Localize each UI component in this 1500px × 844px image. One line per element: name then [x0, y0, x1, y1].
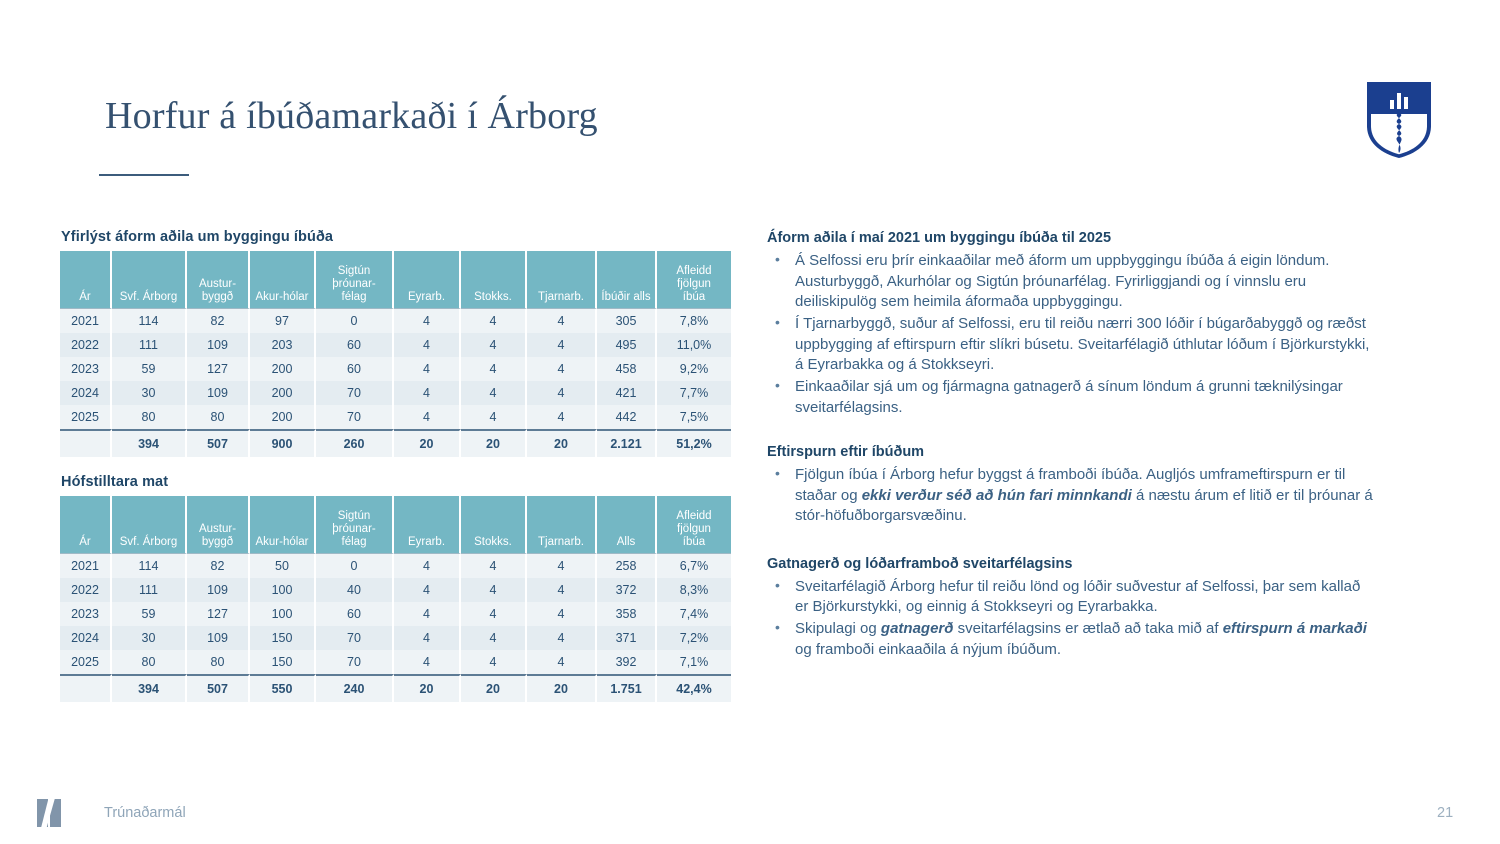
table-1-col-header: Svf. Árborg [112, 251, 187, 309]
table-cell: 4 [394, 309, 461, 333]
table-1-col-header: Austur-byggð [187, 251, 250, 309]
table-cell: 111 [112, 333, 187, 357]
table-total-cell: 20 [527, 674, 597, 702]
table-cell: 4 [527, 309, 597, 333]
table-cell: 0 [316, 554, 394, 578]
table-cell: 2023 [60, 357, 112, 381]
table-1-col-header: Afleidd fjölguníbúa [657, 251, 731, 309]
table-cell: 203 [250, 333, 316, 357]
table-cell: 150 [250, 650, 316, 674]
table-cell: 258 [597, 554, 657, 578]
table-cell: 4 [394, 626, 461, 650]
table-cell: 80 [187, 405, 250, 429]
section-2-bullets: Fjölgun íbúa í Árborg hefur byggst á fra… [767, 465, 1375, 526]
table-cell: 2025 [60, 650, 112, 674]
table-cell: 7,8% [657, 309, 731, 333]
commentary-column: Áform aðila í maí 2021 um byggingu íbúða… [767, 229, 1375, 662]
table-cell: 11,0% [657, 333, 731, 357]
table-cell: 100 [250, 602, 316, 626]
table-cell: 4 [461, 333, 527, 357]
emphasis-text: gatnagerð [881, 620, 954, 637]
table-cell: 7,5% [657, 405, 731, 429]
emphasis-text: eftirspurn á markaði [1223, 620, 1367, 637]
table-1-heading: Yfirlýst áform aðila um byggingu íbúða [61, 229, 333, 245]
table-cell: 4 [461, 626, 527, 650]
table-cell: 4 [394, 578, 461, 602]
table-2-col-header: Sigtúnþróunar-félag [316, 496, 394, 554]
table-row: 2021114825004442586,7% [60, 554, 731, 578]
emphasis-text: ekki verður séð að hún fari minnkandi [862, 487, 1132, 504]
table-cell: 7,2% [657, 626, 731, 650]
table-cell: 4 [527, 333, 597, 357]
table-total-cell: 42,4% [657, 674, 731, 702]
table-1-col-header: Akur-hólar [250, 251, 316, 309]
table-cell: 358 [597, 602, 657, 626]
table-row: 2022111109100404443728,3% [60, 578, 731, 602]
bullet-item: Í Tjarnarbyggð, suður af Selfossi, eru t… [767, 314, 1375, 375]
bullet-item: Fjölgun íbúa í Árborg hefur byggst á fra… [767, 465, 1375, 526]
table-hofstilltara-mat: ÁrSvf. ÁrborgAustur-byggðAkur-hólarSigtú… [60, 496, 731, 702]
table-total-row: 3945079002602020202.12151,2% [60, 429, 731, 457]
table-cell: 4 [527, 578, 597, 602]
table-row: 20258080150704443927,1% [60, 650, 731, 674]
table-total-cell: 20 [394, 674, 461, 702]
table-1-col-header: Stokks. [461, 251, 527, 309]
table-total-row: 3945075502402020201.75142,4% [60, 674, 731, 702]
table-1-col-header: Íbúðir alls [597, 251, 657, 309]
table-cell: 2021 [60, 554, 112, 578]
table-cell: 7,1% [657, 650, 731, 674]
table-cell: 200 [250, 405, 316, 429]
section-3-heading: Gatnagerð og lóðarframboð sveitarfélagsi… [767, 555, 1375, 573]
table-cell: 442 [597, 405, 657, 429]
table-row: 202430109150704443717,2% [60, 626, 731, 650]
table-cell: 392 [597, 650, 657, 674]
table-cell: 4 [394, 357, 461, 381]
table-cell: 371 [597, 626, 657, 650]
table-cell: 4 [394, 554, 461, 578]
table-cell: 7,7% [657, 381, 731, 405]
table-1-body: 2021114829704443057,8%202211110920360444… [60, 309, 731, 457]
table-row: 202359127100604443587,4% [60, 602, 731, 626]
table-yfirlyst-aform: ÁrSvf. ÁrborgAustur-byggðAkur-hólarSigtú… [60, 251, 731, 457]
table-cell: 70 [316, 381, 394, 405]
bullet-item: Á Selfossi eru þrír einkaaðilar með áfor… [767, 251, 1375, 312]
table-cell: 200 [250, 381, 316, 405]
company-logo-mark-icon [34, 795, 64, 831]
table-cell: 4 [527, 357, 597, 381]
table-cell: 127 [187, 357, 250, 381]
table-cell: 4 [527, 650, 597, 674]
page-title: Horfur á íbúðamarkaði í Árborg [105, 94, 598, 138]
table-cell: 4 [461, 381, 527, 405]
table-total-cell: 240 [316, 674, 394, 702]
table-cell: 4 [461, 405, 527, 429]
table-cell: 2025 [60, 405, 112, 429]
table-row: 20258080200704444427,5% [60, 405, 731, 429]
table-cell: 4 [461, 309, 527, 333]
table-row: 2021114829704443057,8% [60, 309, 731, 333]
table-cell: 2023 [60, 602, 112, 626]
table-1-col-header: Eyrarb. [394, 251, 461, 309]
table-cell: 40 [316, 578, 394, 602]
table-cell: 4 [461, 357, 527, 381]
table-2-col-header: Akur-hólar [250, 496, 316, 554]
table-total-cell: 20 [461, 674, 527, 702]
table-total-cell: 260 [316, 429, 394, 457]
table-cell: 6,7% [657, 554, 731, 578]
table-cell: 50 [250, 554, 316, 578]
table-cell: 109 [187, 333, 250, 357]
table-cell: 4 [527, 405, 597, 429]
table-cell: 111 [112, 578, 187, 602]
table-total-cell: 51,2% [657, 429, 731, 457]
table-cell: 100 [250, 578, 316, 602]
section-gatnagerd: Gatnagerð og lóðarframboð sveitarfélagsi… [767, 555, 1375, 661]
table-2-col-header: Stokks. [461, 496, 527, 554]
table-2-body: 2021114825004442586,7%202211110910040444… [60, 554, 731, 702]
table-cell: 495 [597, 333, 657, 357]
section-1-heading: Áform aðila í maí 2021 um byggingu íbúða… [767, 229, 1375, 247]
table-2-col-header: Eyrarb. [394, 496, 461, 554]
table-cell: 97 [250, 309, 316, 333]
table-cell: 2022 [60, 578, 112, 602]
table-cell: 150 [250, 626, 316, 650]
table-cell: 4 [461, 578, 527, 602]
table-cell: 421 [597, 381, 657, 405]
table-1-col-header: Ár [60, 251, 112, 309]
table-total-cell: 900 [250, 429, 316, 457]
section-1-bullets: Á Selfossi eru þrír einkaaðilar með áfor… [767, 251, 1375, 418]
table-cell: 9,2% [657, 357, 731, 381]
table-cell: 4 [527, 626, 597, 650]
table-total-cell: 20 [394, 429, 461, 457]
table-2-col-header: Svf. Árborg [112, 496, 187, 554]
table-cell: 305 [597, 309, 657, 333]
table-cell: 4 [394, 650, 461, 674]
title-underline-rule [99, 174, 189, 176]
table-cell: 30 [112, 381, 187, 405]
section-aform-adila: Áform aðila í maí 2021 um byggingu íbúða… [767, 229, 1375, 418]
table-2-col-header: Austur-byggð [187, 496, 250, 554]
table-cell: 70 [316, 405, 394, 429]
table-cell: 70 [316, 650, 394, 674]
table-cell: 2024 [60, 381, 112, 405]
table-cell: 82 [187, 554, 250, 578]
table-cell: 59 [112, 357, 187, 381]
table-total-cell [60, 429, 112, 457]
table-cell: 7,4% [657, 602, 731, 626]
table-1-header-row: ÁrSvf. ÁrborgAustur-byggðAkur-hólarSigtú… [60, 251, 731, 309]
table-cell: 80 [112, 650, 187, 674]
table-total-cell: 1.751 [597, 674, 657, 702]
table-row: 20221111092036044449511,0% [60, 333, 731, 357]
table-total-cell: 394 [112, 674, 187, 702]
table-cell: 59 [112, 602, 187, 626]
table-cell: 4 [527, 602, 597, 626]
table-cell: 127 [187, 602, 250, 626]
table-2-col-header: Ár [60, 496, 112, 554]
footer-confidentiality-label: Trúnaðarmál [104, 805, 186, 821]
table-cell: 4 [461, 554, 527, 578]
table-cell: 4 [527, 554, 597, 578]
section-eftirspurn: Eftirspurn eftir íbúðum Fjölgun íbúa í Á… [767, 443, 1375, 526]
table-cell: 114 [112, 554, 187, 578]
table-cell: 4 [527, 381, 597, 405]
table-cell: 80 [112, 405, 187, 429]
table-cell: 4 [394, 602, 461, 626]
table-cell: 80 [187, 650, 250, 674]
table-total-cell: 507 [187, 429, 250, 457]
table-cell: 30 [112, 626, 187, 650]
table-total-cell [60, 674, 112, 702]
table-cell: 2024 [60, 626, 112, 650]
table-total-cell: 2.121 [597, 429, 657, 457]
table-cell: 70 [316, 626, 394, 650]
section-3-bullets: Sveitarfélagið Árborg hefur til reiðu lö… [767, 577, 1375, 661]
table-2-col-header: Alls [597, 496, 657, 554]
table-2-header-row: ÁrSvf. ÁrborgAustur-byggðAkur-hólarSigtú… [60, 496, 731, 554]
page-number: 21 [1437, 805, 1453, 821]
table-total-cell: 394 [112, 429, 187, 457]
table-cell: 60 [316, 333, 394, 357]
slide-root: Horfur á íbúðamarkaði í Árborg Yfirlýst … [0, 0, 1500, 844]
table-cell: 4 [394, 333, 461, 357]
table-cell: 2021 [60, 309, 112, 333]
table-2-col-header: Afleidd fjölguníbúa [657, 496, 731, 554]
table-cell: 4 [461, 650, 527, 674]
table-total-cell: 550 [250, 674, 316, 702]
table-total-cell: 20 [527, 429, 597, 457]
table-cell: 4 [394, 405, 461, 429]
bullet-item: Einkaaðilar sjá um og fjármagna gatnager… [767, 377, 1375, 418]
table-cell: 60 [316, 357, 394, 381]
table-cell: 109 [187, 578, 250, 602]
table-cell: 8,3% [657, 578, 731, 602]
table-total-cell: 507 [187, 674, 250, 702]
table-cell: 4 [461, 602, 527, 626]
table-cell: 82 [187, 309, 250, 333]
table-cell: 114 [112, 309, 187, 333]
bullet-item: Sveitarfélagið Árborg hefur til reiðu lö… [767, 577, 1375, 618]
table-cell: 4 [394, 381, 461, 405]
bullet-item: Skipulagi og gatnagerð sveitarfélagsins … [767, 619, 1375, 660]
table-total-cell: 20 [461, 429, 527, 457]
table-1-col-header: Sigtúnþróunar-félag [316, 251, 394, 309]
table-cell: 2022 [60, 333, 112, 357]
table-cell: 109 [187, 381, 250, 405]
table-cell: 372 [597, 578, 657, 602]
table-cell: 200 [250, 357, 316, 381]
table-row: 202430109200704444217,7% [60, 381, 731, 405]
municipal-crest-shield-icon [1363, 80, 1435, 160]
table-cell: 60 [316, 602, 394, 626]
section-2-heading: Eftirspurn eftir íbúðum [767, 443, 1375, 461]
table-cell: 0 [316, 309, 394, 333]
table-cell: 458 [597, 357, 657, 381]
table-cell: 109 [187, 626, 250, 650]
table-row: 202359127200604444589,2% [60, 357, 731, 381]
table-2-col-header: Tjarnarb. [527, 496, 597, 554]
table-1-col-header: Tjarnarb. [527, 251, 597, 309]
table-2-heading: Hófstilltara mat [61, 474, 168, 490]
